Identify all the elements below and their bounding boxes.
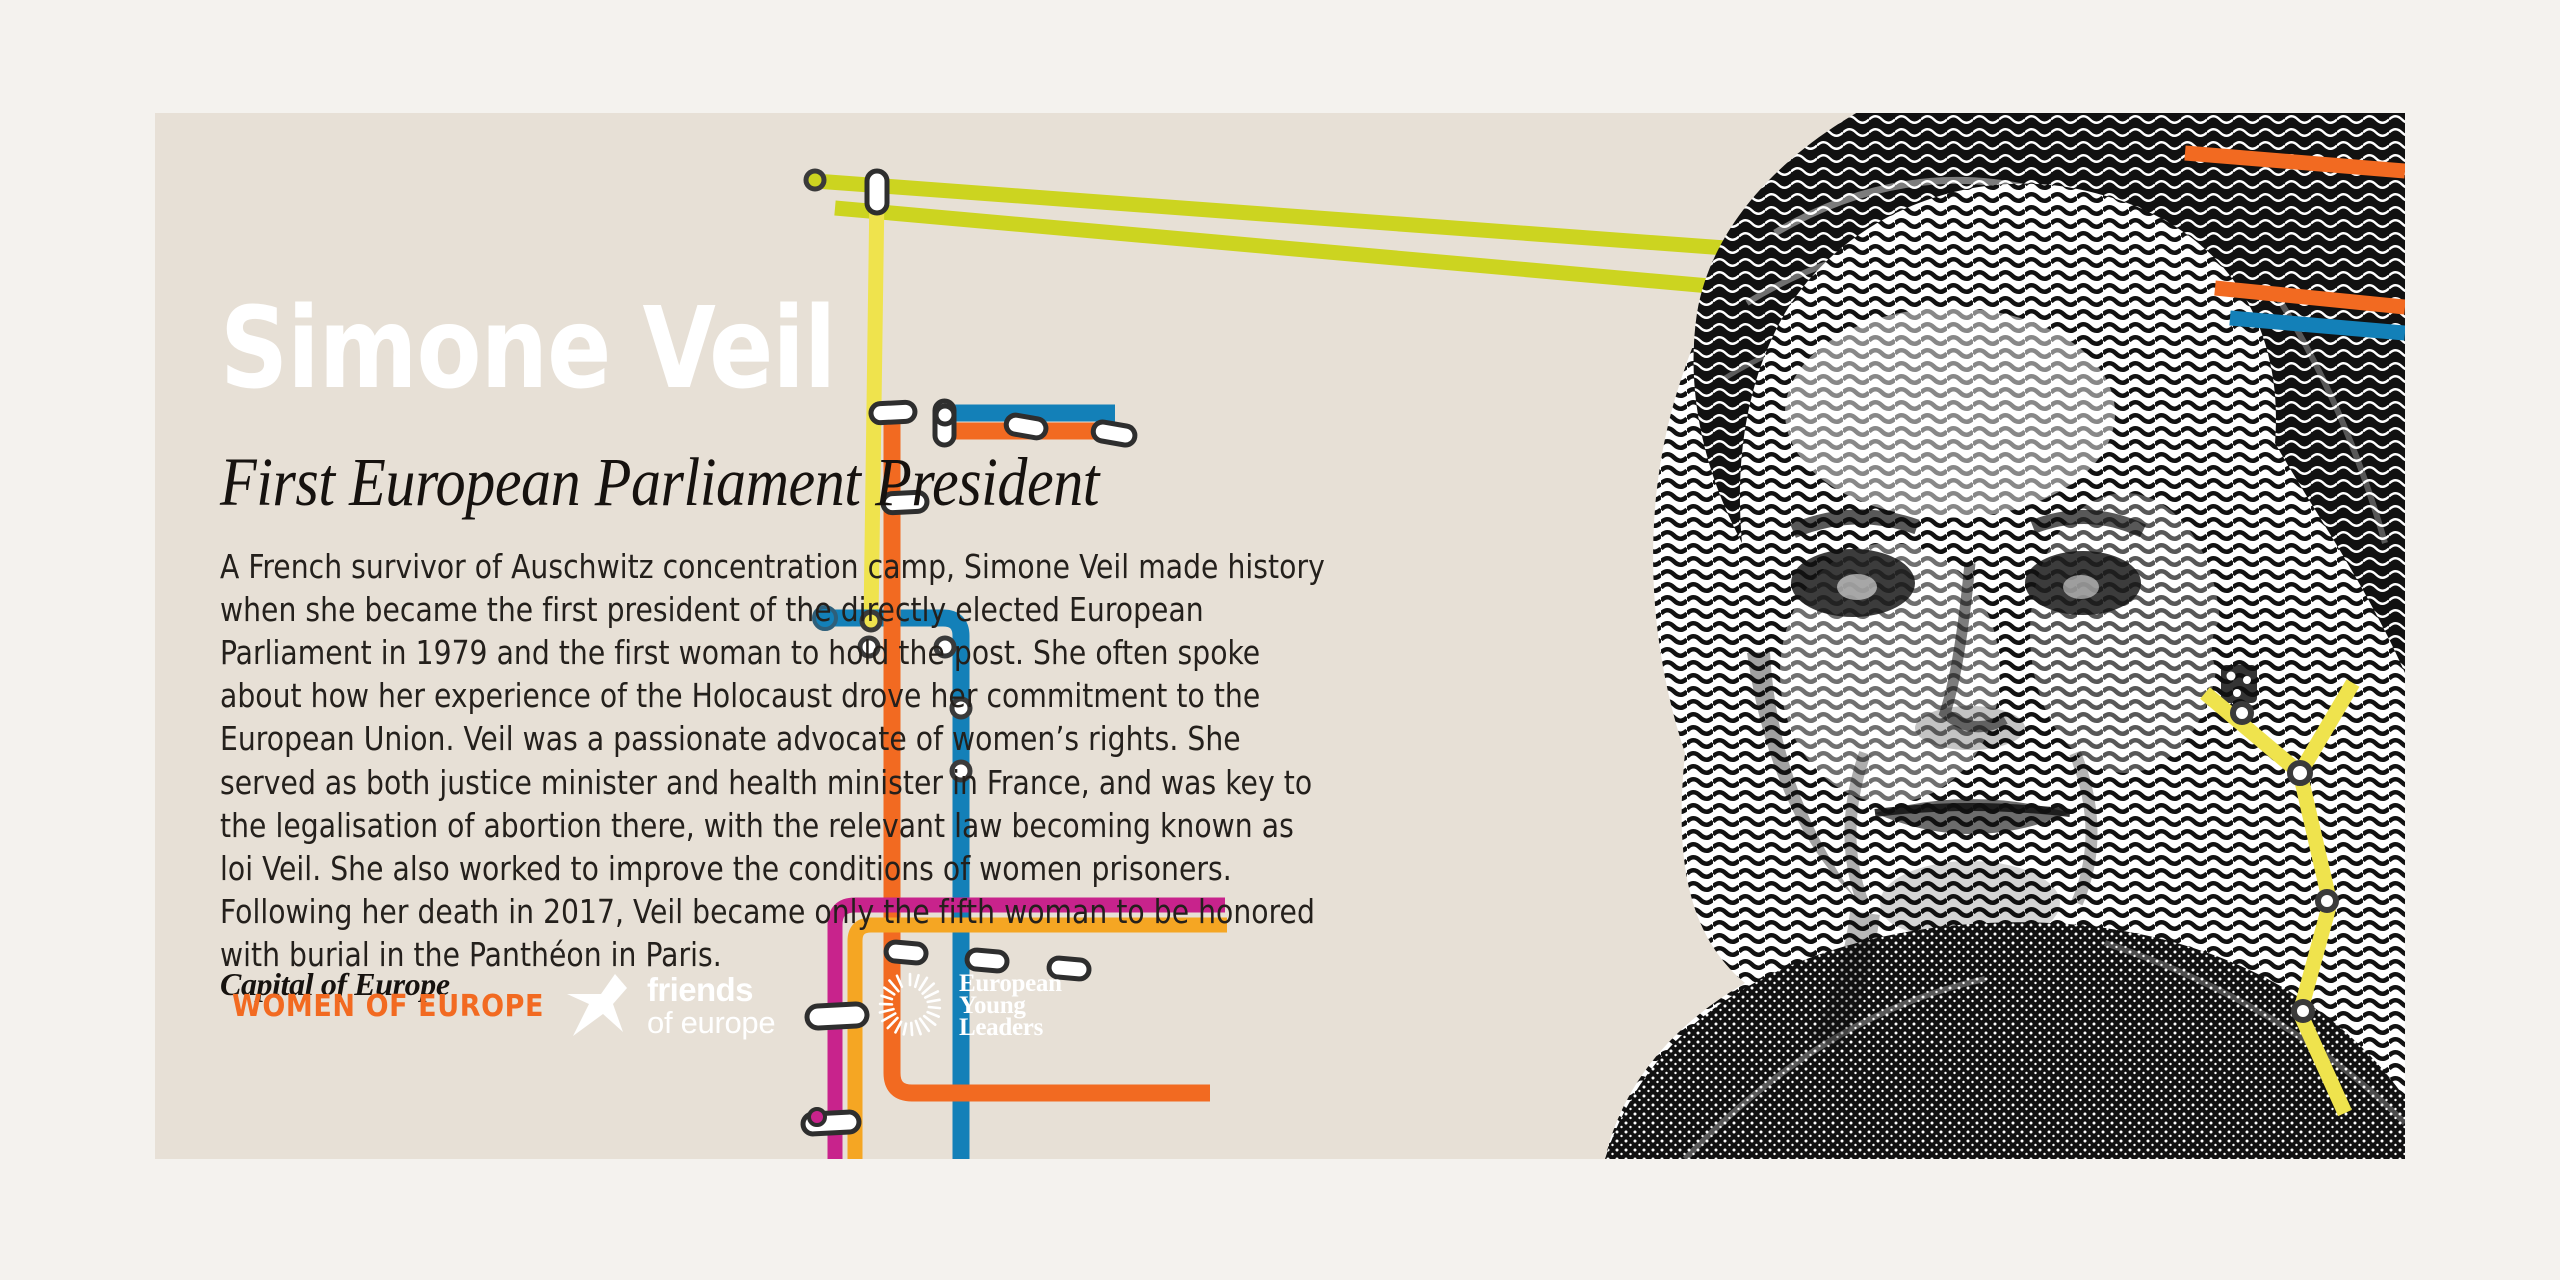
poster-canvas: Simone Veil First European Parliament Pr… — [0, 0, 2560, 1280]
women-of-europe-line2: WOMEN OF EUROPE — [232, 992, 544, 1022]
page-subtitle: First European Parliament President — [220, 448, 1099, 517]
page-title: Simone Veil — [220, 293, 835, 405]
radial-burst-mark-icon — [875, 970, 945, 1040]
friends-of-europe-line2: of europe — [647, 1006, 775, 1039]
friends-of-europe-line1: friends — [647, 974, 775, 1006]
star-mark-icon — [565, 974, 643, 1036]
biography-text: A French survivor of Auschwitz concentra… — [220, 546, 1335, 978]
european-young-leaders-wordmark: European Young Leaders — [959, 973, 1062, 1039]
friends-of-europe-wordmark: friends of europe — [647, 974, 775, 1039]
poster-card: Simone Veil First European Parliament Pr… — [155, 113, 2405, 1159]
text-column: Simone Veil First European Parliament Pr… — [220, 113, 1450, 1159]
logo-friends-of-europe[interactable]: friends of europe — [565, 974, 835, 1038]
logo-european-young-leaders[interactable]: European Young Leaders — [875, 970, 1205, 1040]
eyl-line3: Leaders — [959, 1017, 1062, 1039]
logo-women-of-europe[interactable]: Capital of Europe WOMEN OF EUROPE — [220, 968, 520, 1038]
